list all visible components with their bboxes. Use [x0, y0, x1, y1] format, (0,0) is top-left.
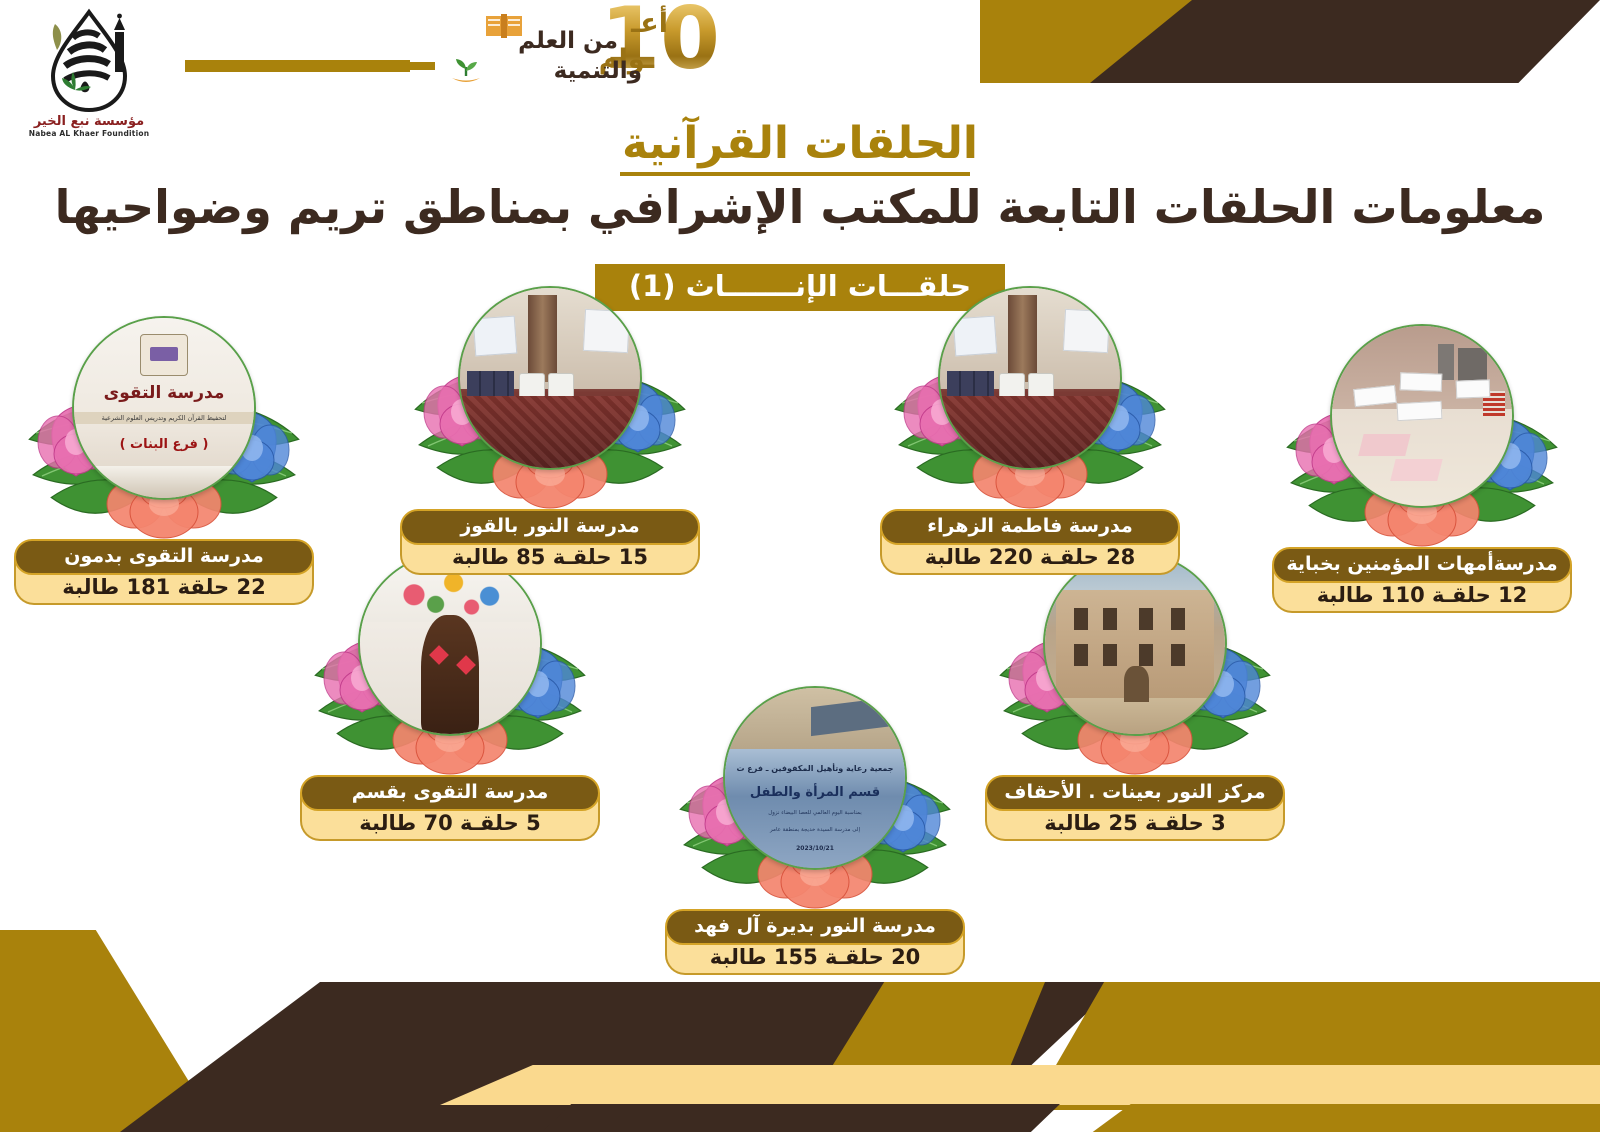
bottom-gold-strip	[1090, 1104, 1600, 1132]
school-photo	[1330, 324, 1514, 508]
page-subtitle: معلومات الحلقات التابعة للمكتب الإشرافي …	[0, 180, 1600, 234]
photo-mat	[1358, 434, 1410, 456]
photo-curtain	[528, 295, 557, 381]
photo-sign-branch: ( فرع البنات )	[74, 437, 254, 452]
open-book-icon	[484, 10, 524, 40]
top-gold-rule-dash	[390, 62, 435, 70]
photo-sign-subtitle: لتحفيظ القرآن الكريم وتدريس العلوم الشرع…	[74, 412, 254, 424]
photo-door	[1124, 666, 1149, 702]
school-emblem-icon	[140, 334, 188, 376]
section-banner-wrap: حلقـــات الإنـــــــاث (1)	[0, 264, 1600, 311]
photo-poster	[583, 308, 630, 352]
photo-classroom	[460, 288, 640, 468]
card-label: مدرسة النور بديرة آل فهد 20 حلقـة 155 طا…	[665, 909, 965, 975]
card-label: مدرسة النور بالقوز 15 حلقـة 85 طالبة	[400, 509, 700, 575]
photo-window	[1171, 608, 1185, 630]
photo-seating	[947, 371, 994, 396]
photo-sign-base	[74, 466, 254, 498]
photo-window	[1103, 608, 1117, 630]
photo-ground	[1045, 698, 1225, 734]
bottom-cream-band	[440, 1065, 1600, 1105]
photo-mat	[1390, 459, 1442, 481]
top-gold-rule	[185, 60, 410, 72]
photo-curtain	[1008, 295, 1037, 381]
school-card[interactable]: مركز النور بعينات . الأحقاف 3 حلقـة 25 ط…	[985, 548, 1285, 841]
school-name: مدرسة النور بديرة آل فهد	[665, 909, 965, 945]
photo-poster	[953, 315, 997, 356]
school-card[interactable]: مدرسةأمهات المؤمنين بخباية 12 حلقـة 110 …	[1272, 320, 1572, 613]
photo-sign	[1396, 400, 1442, 421]
photo-building	[1045, 554, 1225, 734]
photo-window	[1103, 644, 1117, 666]
photo-banner-date: 2023/10/21	[725, 845, 905, 852]
photo-sign	[1456, 379, 1491, 398]
floral-frame	[400, 282, 700, 517]
school-photo	[358, 552, 542, 736]
poster-canvas: مؤسسة نبع الخير Nabea AL Khaer Founditio…	[0, 0, 1600, 1132]
floral-frame	[985, 548, 1285, 783]
photo-window	[1139, 644, 1153, 666]
photo-poster	[473, 315, 517, 356]
anniversary-logo: 10 أعـ ـوام من العلم والتنمية	[440, 2, 720, 100]
photo-decorated-wall	[360, 554, 540, 734]
card-label: مركز النور بعينات . الأحقاف 3 حلقـة 25 ط…	[985, 775, 1285, 841]
plant-in-hand-icon	[448, 54, 484, 84]
bottom-dark-strip	[540, 1104, 1060, 1132]
school-photo: مدرسة التقوى لتحفيظ القرآن الكريم وتدريس…	[72, 316, 256, 500]
photo-banner-line2: قسم المرأة والطفل	[725, 785, 905, 800]
school-card[interactable]: جمعية رعاية وتأهيل المكفوفين ـ فرع ت قسم…	[665, 682, 965, 975]
school-name: مركز النور بعينات . الأحقاف	[985, 775, 1285, 811]
photo-banner-line3: بمناسبة اليوم العالمي للعصا البيضاء نزول	[725, 810, 905, 816]
school-name: مدرسة فاطمة الزهراء	[880, 509, 1180, 545]
school-card[interactable]: مدرسة التقوى لتحفيظ القرآن الكريم وتدريس…	[14, 312, 314, 605]
school-photo	[1043, 552, 1227, 736]
photo-study-hall	[1332, 326, 1512, 506]
card-label: مدرسة التقوى بقسم 5 حلقـة 70 طالبة	[300, 775, 600, 841]
school-name: مدرسةأمهات المؤمنين بخباية	[1272, 547, 1572, 583]
school-card[interactable]: مدرسة فاطمة الزهراء 28 حلقـة 220 طالبة	[880, 282, 1180, 575]
card-label: مدرسة التقوى بدمون 22 حلقة 181 طالبة	[14, 539, 314, 605]
photo-seating	[467, 371, 514, 396]
school-photo	[938, 286, 1122, 470]
photo-window	[1074, 608, 1088, 630]
water-drop-calligraphy-minaret-icon	[29, 8, 149, 116]
photo-window	[1074, 644, 1088, 666]
school-photo	[458, 286, 642, 470]
card-label: مدرسة فاطمة الزهراء 28 حلقـة 220 طالبة	[880, 509, 1180, 575]
photo-figure	[421, 615, 479, 734]
school-photo: جمعية رعاية وتأهيل المكفوفين ـ فرع ت قسم…	[723, 686, 907, 870]
school-card[interactable]: مدرسة النور بالقوز 15 حلقـة 85 طالبة	[400, 282, 700, 575]
school-name: مدرسة التقوى بدمون	[14, 539, 314, 575]
photo-classroom	[940, 288, 1120, 468]
school-name: مدرسة التقوى بقسم	[300, 775, 600, 811]
floral-frame: جمعية رعاية وتأهيل المكفوفين ـ فرع ت قسم…	[665, 682, 965, 917]
photo-window	[1139, 608, 1153, 630]
card-label: مدرسةأمهات المؤمنين بخباية 12 حلقـة 110 …	[1272, 547, 1572, 613]
photo-sign	[1400, 372, 1442, 392]
photo-event-banner: جمعية رعاية وتأهيل المكفوفين ـ فرع ت قسم…	[725, 688, 905, 868]
floral-frame: مدرسة التقوى لتحفيظ القرآن الكريم وتدريس…	[14, 312, 314, 547]
school-card[interactable]: مدرسة التقوى بقسم 5 حلقـة 70 طالبة	[300, 548, 600, 841]
floral-frame	[300, 548, 600, 783]
title-underline	[620, 172, 970, 176]
anniversary-word-top: أعـ	[631, 8, 668, 39]
photo-banner-line4: إلى مدرسة السيدة خديجة بمنطقة عامر	[725, 827, 905, 833]
photo-window	[1171, 644, 1185, 666]
photo-carpet	[940, 396, 1120, 468]
floral-frame	[1272, 320, 1572, 555]
school-name: مدرسة النور بالقوز	[400, 509, 700, 545]
photo-carpet	[460, 396, 640, 468]
photo-banner-line1: جمعية رعاية وتأهيل المكفوفين ـ فرع ت	[725, 764, 905, 773]
anniversary-line2: والتنمية	[554, 58, 642, 84]
floral-frame	[880, 282, 1180, 517]
anniversary-line1: من العلم	[518, 28, 618, 54]
photo-poster	[1063, 308, 1110, 352]
photo-sign-title: مدرسة التقوى	[74, 383, 254, 403]
page-title: الحلقات القرآنية	[0, 118, 1600, 169]
photo-school-sign: مدرسة التقوى لتحفيظ القرآن الكريم وتدريس…	[74, 318, 254, 498]
